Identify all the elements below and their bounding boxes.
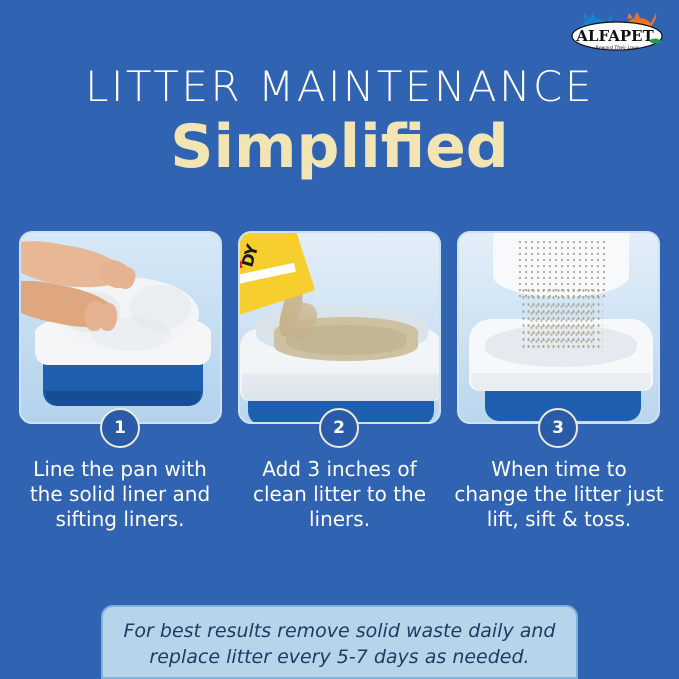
step-1-illustration [21,233,220,422]
headline-line-1: LITTER MAINTENANCE [0,62,679,112]
liner-skirt [242,373,439,401]
step-image-2: DY [238,231,441,424]
step-badge-1: 1 [100,408,140,448]
alfapet-logo: ALFAPET Reward Their Love [570,8,664,54]
step-caption-1: Line the pan with the solid liner and si… [14,457,226,532]
step-badge-3: 3 [538,408,578,448]
step-number-row: 1 2 3 [19,408,660,450]
steps-image-row: DY [19,231,660,424]
infographic-canvas: ALFAPET Reward Their Love LITTER MAINTEN… [0,0,679,679]
step-caption-2: Add 3 inches of clean litter to the line… [234,457,446,532]
step-caption-3: When time to change the litter just lift… [453,457,665,532]
falling-litter [529,303,593,347]
pan-shadow [45,391,201,406]
step-3-illustration [459,233,658,422]
step-2-illustration: DY [240,233,439,422]
step-caption-row: Line the pan with the solid liner and si… [14,457,665,532]
liner-skirt [471,373,651,391]
step-badge-2: 2 [319,408,359,448]
footer-note-text: For best results remove solid waste dail… [114,618,566,670]
step-image-1 [19,231,222,424]
headline-line-2: Simplified [0,114,679,180]
footer-note-banner: For best results remove solid waste dail… [101,605,578,679]
page-title: LITTER MAINTENANCE Simplified [0,62,679,180]
logo-artwork: ALFAPET Reward Their Love [570,8,664,54]
step-image-3 [457,231,660,424]
logo-tagline: Reward Their Love [596,45,639,51]
logo-wordmark: ALFAPET [575,27,654,45]
